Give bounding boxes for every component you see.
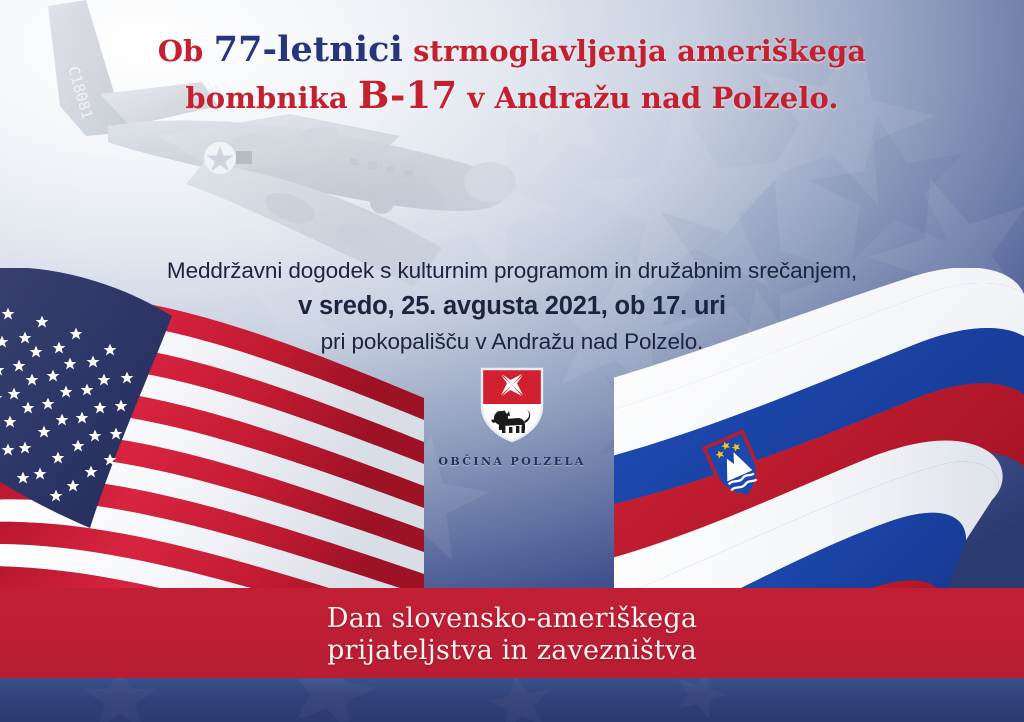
municipality-crest: OBČINA POLZELA xyxy=(427,366,597,468)
event-venue: pri pokopališču v Andražu nad Polzelo. xyxy=(0,327,1024,356)
event-datetime: v sredo, 25. avgusta 2021, ob 17. uri xyxy=(0,290,1024,323)
banner-line-2: prijateljstva in zavezništva xyxy=(327,635,697,667)
title-line-2: bombnika B-17 v Andražu nad Polzelo. xyxy=(0,75,1024,116)
event-description: Meddržavni dogodek s kulturnim programom… xyxy=(0,256,1024,285)
poster-title: Ob 77-letnici strmoglavljenja ameriškega… xyxy=(0,30,1024,117)
title-line-1: Ob 77-letnici strmoglavljenja ameriškega xyxy=(0,30,1024,69)
footer-stars-pattern xyxy=(0,678,1024,722)
banner-line-1: Dan slovensko-ameriškega xyxy=(327,603,697,635)
event-details: Meddržavni dogodek s kulturnim programom… xyxy=(0,256,1024,357)
title-b17: B-17 xyxy=(358,73,457,117)
title-ob: Ob xyxy=(158,34,214,68)
municipality-name: OBČINA POLZELA xyxy=(427,455,597,468)
footer-strip xyxy=(0,678,1024,722)
banner-slogan: Dan slovensko-ameriškega prijateljstva i… xyxy=(0,592,1024,678)
poster-canvas: C18081 xyxy=(0,0,1024,722)
title-anniversary: 77-letnici xyxy=(214,29,403,70)
title-location: v Andražu nad Polzelo. xyxy=(457,81,838,115)
title-line1-rest: strmoglavljenja ameriškega xyxy=(403,34,866,68)
title-bomber-word: bombnika xyxy=(185,81,358,115)
polzela-coat-of-arms-icon xyxy=(479,366,545,444)
